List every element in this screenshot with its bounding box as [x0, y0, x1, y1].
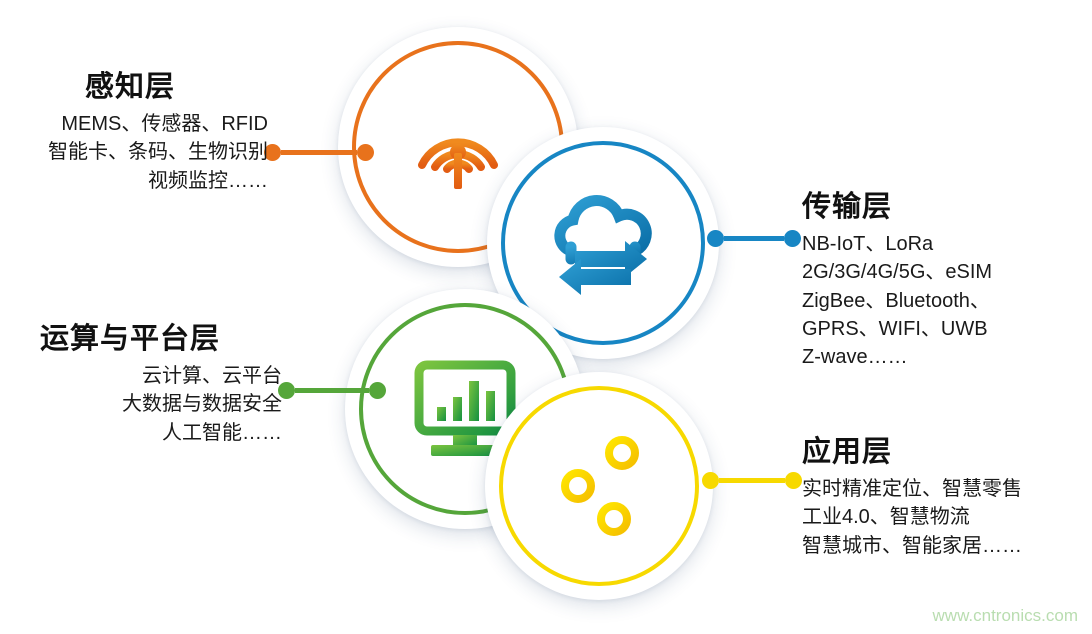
connector-dot-inner	[357, 144, 374, 161]
layer-title-sense: 感知层	[10, 72, 268, 104]
connector-transmit	[707, 229, 801, 247]
layer-label-sense: 感知层 MEMS、传感器、RFID 智能卡、条码、生物识别 视频监控……	[10, 72, 268, 195]
layer-label-apply: 应用层 实时精准定位、智慧零售 工业4.0、智慧物流 智慧城市、智能家居……	[802, 437, 1088, 560]
sliders-icon	[485, 372, 713, 600]
connector-line	[281, 150, 357, 155]
connector-sense	[264, 143, 374, 161]
connector-dot-outer	[785, 472, 802, 489]
connector-dot-inner	[702, 472, 719, 489]
layer-items-sense: MEMS、传感器、RFID 智能卡、条码、生物识别 视频监控……	[10, 110, 268, 195]
connector-line	[295, 388, 369, 393]
connector-compute	[278, 381, 386, 399]
watermark: www.cntronics.com	[933, 606, 1078, 626]
iot-architecture-diagram: 感知层 MEMS、传感器、RFID 智能卡、条码、生物识别 视频监控…… 运算与…	[0, 0, 1092, 634]
connector-line	[719, 478, 785, 483]
layer-title-apply: 应用层	[802, 437, 1088, 469]
node-circle-apply[interactable]	[485, 372, 713, 600]
layer-items-transmit: NB-IoT、LoRa 2G/3G/4G/5G、eSIM ZigBee、Blue…	[802, 230, 1082, 372]
connector-dot-outer	[784, 230, 801, 247]
layer-label-transmit: 传输层 NB-IoT、LoRa 2G/3G/4G/5G、eSIM ZigBee、…	[802, 192, 1082, 372]
connector-apply	[702, 471, 802, 489]
connector-line	[724, 236, 784, 241]
connector-dot-inner	[369, 382, 386, 399]
layer-items-compute: 云计算、云平台 大数据与数据安全 人工智能……	[10, 362, 282, 447]
layer-title-compute: 运算与平台层	[10, 324, 282, 356]
layer-title-transmit: 传输层	[802, 192, 1082, 224]
connector-dot-inner	[707, 230, 724, 247]
layer-items-apply: 实时精准定位、智慧零售 工业4.0、智慧物流 智慧城市、智能家居……	[802, 475, 1088, 560]
layer-label-compute: 运算与平台层 云计算、云平台 大数据与数据安全 人工智能……	[10, 324, 282, 447]
